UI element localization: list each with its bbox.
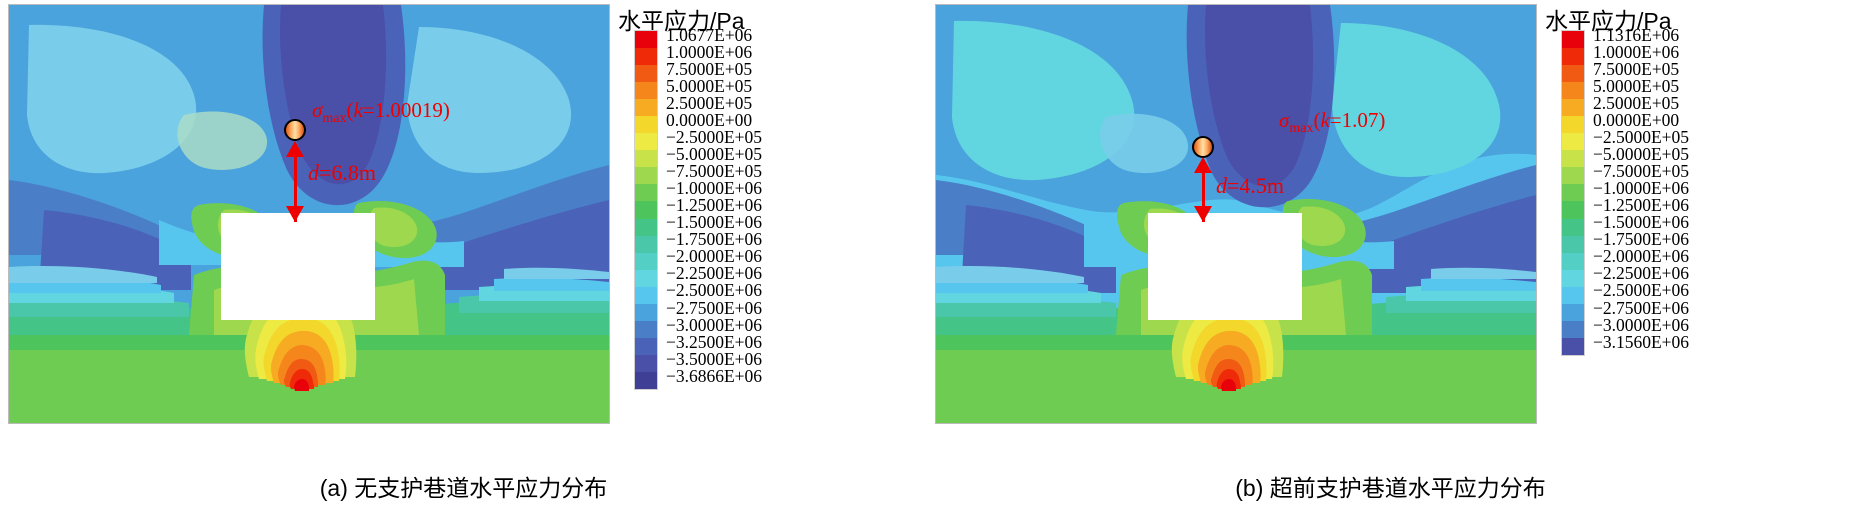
- panel-a: σmax(k=1.00019) d=6.8m 水平应力/Pa 1.0677E+0…: [0, 0, 927, 509]
- colorbar-segment: [1562, 201, 1584, 218]
- caption-b: (b) 超前支护巷道水平应力分布: [927, 469, 1854, 503]
- colorbar-segment: [1562, 253, 1584, 270]
- colorbar-segment: [635, 287, 657, 304]
- annotation-sigma-max-a: σmax(k=1.00019): [312, 98, 450, 127]
- k-value-a: =1.00019: [363, 98, 443, 122]
- d-symbol-a: d: [308, 160, 319, 185]
- d-value-a: =6.8m: [319, 160, 376, 185]
- colorbar-segment: [635, 253, 657, 270]
- colorbar-segment: [1562, 184, 1584, 201]
- max-stress-marker-b: [1192, 136, 1214, 158]
- colorbar-segment: [635, 167, 657, 184]
- colorbar-segment: [635, 150, 657, 167]
- sigma-subscript-a: max: [322, 111, 346, 126]
- colorbar-segment: [1562, 133, 1584, 150]
- measure-arrow-head-down-b: [1194, 206, 1212, 222]
- paren-close-b: ): [1378, 108, 1385, 132]
- colorbar-segment: [1562, 31, 1584, 48]
- annotation-sigma-max-b: σmax(k=1.07): [1279, 108, 1385, 137]
- colorbar-segment: [1562, 65, 1584, 82]
- measure-arrow-head-up-b: [1194, 157, 1212, 173]
- colorbar-segment: [635, 372, 657, 389]
- panel-b: σmax(k=1.07) d=4.5m 水平应力/Pa 1.1316E+061.…: [927, 0, 1854, 509]
- annotation-distance-b: d=4.5m: [1216, 173, 1284, 199]
- colorbar-segment: [635, 133, 657, 150]
- contour-plot-b: [935, 4, 1537, 424]
- colorbar-segment: [635, 48, 657, 65]
- colorbar-segment: [1562, 99, 1584, 116]
- colorbar-segment: [635, 184, 657, 201]
- colorbar-segment: [635, 338, 657, 355]
- colorbar-segment: [635, 82, 657, 99]
- colorbar-segment: [1562, 82, 1584, 99]
- figure-stress-distribution: σmax(k=1.00019) d=6.8m 水平应力/Pa 1.0677E+0…: [0, 0, 1854, 509]
- colorbar-b: [1561, 30, 1585, 356]
- k-value-b: =1.07: [1330, 108, 1379, 132]
- colorbar-segment: [1562, 116, 1584, 133]
- colorbar-segment: [1562, 338, 1584, 355]
- colorbar-segment: [1562, 219, 1584, 236]
- sigma-subscript-b: max: [1289, 121, 1313, 136]
- colorbar-segment: [635, 355, 657, 372]
- colorbar-segment: [1562, 304, 1584, 321]
- colorbar-tick-label: −3.6866E+06: [666, 368, 762, 385]
- max-stress-marker-a: [284, 119, 306, 141]
- colorbar-segment: [635, 65, 657, 82]
- colorbar-a: [634, 30, 658, 390]
- colorbar-segment: [635, 201, 657, 218]
- roadway-opening-a: [221, 213, 375, 320]
- caption-a: (a) 无支护巷道水平应力分布: [0, 469, 927, 503]
- contour-plot-a: [8, 4, 610, 424]
- roadway-opening-b: [1148, 213, 1302, 320]
- d-symbol-b: d: [1216, 173, 1227, 198]
- d-value-b: =4.5m: [1227, 173, 1284, 198]
- annotation-distance-a: d=6.8m: [308, 160, 376, 186]
- colorbar-segment: [635, 219, 657, 236]
- colorbar-tick-labels-b: 1.1316E+061.0000E+067.5000E+055.0000E+05…: [1593, 27, 1689, 351]
- colorbar-segment: [635, 270, 657, 287]
- colorbar-segment: [1562, 270, 1584, 287]
- colorbar-segment: [1562, 150, 1584, 167]
- paren-close-a: ): [443, 98, 450, 122]
- colorbar-segment: [635, 99, 657, 116]
- measure-arrow-head-up-a: [286, 141, 304, 157]
- sigma-symbol-a: σ: [312, 98, 322, 122]
- k-symbol-b: k: [1320, 108, 1329, 132]
- colorbar-segment: [1562, 167, 1584, 184]
- colorbar-segment: [635, 236, 657, 253]
- colorbar-segment: [635, 31, 657, 48]
- colorbar-segment: [635, 304, 657, 321]
- k-symbol-a: k: [353, 98, 362, 122]
- colorbar-segment: [1562, 287, 1584, 304]
- measure-arrow-head-down-a: [286, 206, 304, 222]
- sigma-symbol-b: σ: [1279, 108, 1289, 132]
- colorbar-segment: [635, 116, 657, 133]
- colorbar-segment: [1562, 48, 1584, 65]
- colorbar-segment: [635, 321, 657, 338]
- colorbar-tick-labels-a: 1.0677E+061.0000E+067.5000E+055.0000E+05…: [666, 27, 762, 385]
- colorbar-segment: [1562, 236, 1584, 253]
- colorbar-tick-label: −3.1560E+06: [1593, 334, 1689, 351]
- colorbar-segment: [1562, 321, 1584, 338]
